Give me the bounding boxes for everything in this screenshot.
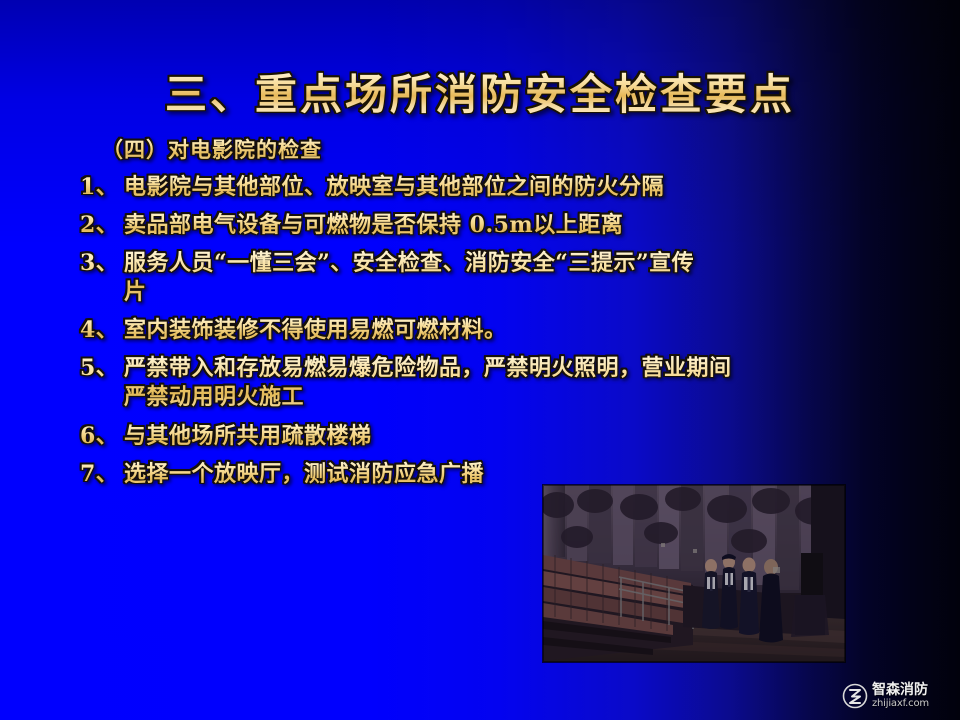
list-item-line: 电影院与其他部位、放映室与其他部位之间的防火分隔	[124, 173, 910, 202]
list-item-line: 严禁动用明火施工	[124, 383, 910, 412]
list-item: 3、 服务人员“一懂三会”、安全检查、消防安全“三提示”宣传 片	[80, 249, 910, 307]
list-item-line: 与其他场所共用疏散楼梯	[124, 422, 910, 451]
body-block: （四）对电影院的检查 1、 电影院与其他部位、放映室与其他部位之间的防火分隔 2…	[80, 136, 910, 498]
list-item-line: 片	[124, 278, 910, 307]
list-item-number: 2、	[80, 211, 124, 240]
list-item-line: 严禁带入和存放易燃易爆危险物品，严禁明火照明，营业期间	[124, 354, 910, 383]
list-item-number: 6、	[80, 422, 124, 451]
list-item-line: 卖品部电气设备与可燃物是否保持 0.5m以上距离	[124, 211, 910, 240]
list-item-line: 服务人员“一懂三会”、安全检查、消防安全“三提示”宣传	[124, 249, 910, 278]
list-item-text: 卖品部电气设备与可燃物是否保持 0.5m以上距离	[124, 211, 910, 240]
watermark-brand: 智森消防	[872, 683, 929, 697]
list-item: 4、 室内装饰装修不得使用易燃可燃材料。	[80, 316, 910, 345]
section-subtitle: （四）对电影院的检查	[102, 136, 910, 163]
page-title: 三、重点场所消防安全检查要点	[165, 72, 795, 118]
list-item: 1、 电影院与其他部位、放映室与其他部位之间的防火分隔	[80, 173, 910, 202]
list-item-number: 3、	[80, 249, 124, 278]
list-item-text: 服务人员“一懂三会”、安全检查、消防安全“三提示”宣传 片	[124, 249, 910, 307]
list-item-text: 室内装饰装修不得使用易燃可燃材料。	[124, 316, 910, 345]
watermark-url: zhijiaxf.com	[872, 699, 929, 709]
list-item-number: 7、	[80, 460, 124, 489]
zhisen-logo-icon	[842, 683, 868, 709]
cinema-photo-graphic	[543, 485, 845, 662]
list-item-number: 5、	[80, 354, 124, 383]
list-item: 2、 卖品部电气设备与可燃物是否保持 0.5m以上距离	[80, 211, 910, 240]
slide-canvas: 三、重点场所消防安全检查要点 （四）对电影院的检查 1、 电影院与其他部位、放映…	[0, 0, 960, 720]
list-item-text: 电影院与其他部位、放映室与其他部位之间的防火分隔	[124, 173, 910, 202]
watermark: 智森消防 zhijiaxf.com	[842, 676, 960, 716]
cinema-inspection-photo	[543, 485, 845, 662]
list-item: 5、 严禁带入和存放易燃易爆危险物品，严禁明火照明，营业期间 严禁动用明火施工	[80, 354, 910, 412]
watermark-texts: 智森消防 zhijiaxf.com	[872, 683, 929, 709]
list-item-text: 严禁带入和存放易燃易爆危险物品，严禁明火照明，营业期间 严禁动用明火施工	[124, 354, 910, 412]
checkpoint-list: 1、 电影院与其他部位、放映室与其他部位之间的防火分隔 2、 卖品部电气设备与可…	[80, 173, 910, 488]
list-item-text: 与其他场所共用疏散楼梯	[124, 422, 910, 451]
list-item-number: 4、	[80, 316, 124, 345]
list-item-line: 室内装饰装修不得使用易燃可燃材料。	[124, 316, 910, 345]
list-item-number: 1、	[80, 173, 124, 202]
list-item: 6、 与其他场所共用疏散楼梯	[80, 422, 910, 451]
title-block: 三、重点场所消防安全检查要点	[0, 72, 960, 118]
